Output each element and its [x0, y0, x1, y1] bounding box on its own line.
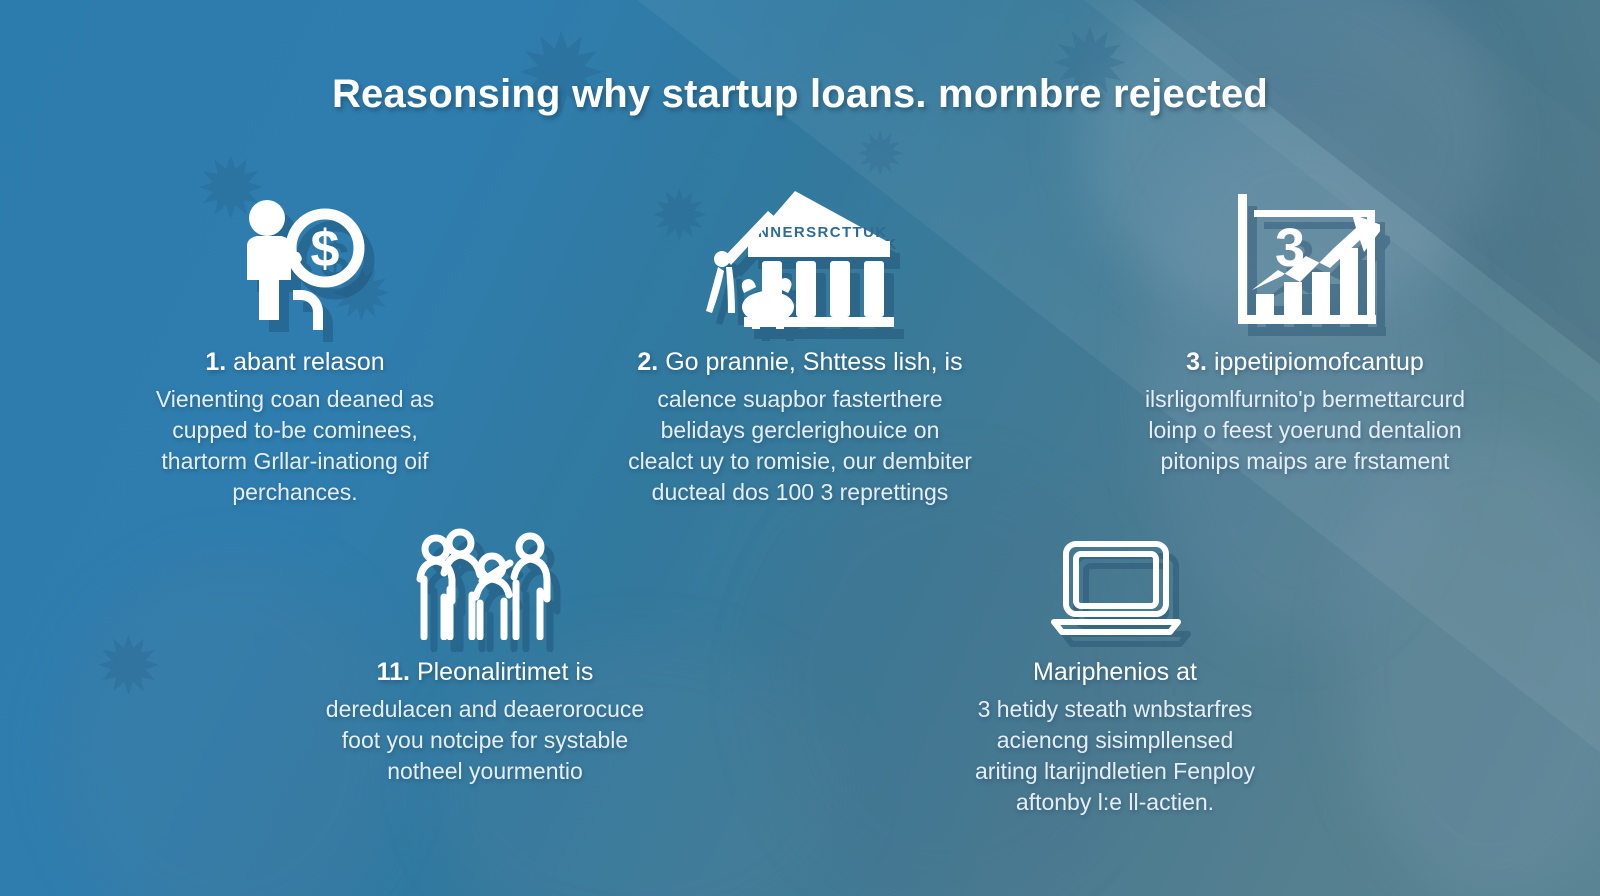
- reason-body: ilsrligomlfurnito'p bermettarcurd loinp …: [1145, 384, 1465, 477]
- reason-body-line: aftonby l:e ll-actien.: [975, 787, 1255, 818]
- infographic-canvas: ✹ ✹ ✹ ✹ ✹ ✹ ✹ Reasonsing why startup loa…: [0, 0, 1600, 896]
- reason-body: calence suapbor fasterthere belidays ger…: [628, 384, 972, 508]
- reason-body-line: thartorm Grllar-inationg oif: [156, 446, 434, 477]
- reason-body-line: foot you notcipe for systable: [326, 725, 644, 756]
- reason-heading-text: Go prannie, Shttess lish, is: [665, 348, 962, 376]
- reason-heading: 11. Pleonalirtimet is: [377, 658, 594, 687]
- top-row: $ 1. abant relason Vienenting coan deane…: [60, 180, 1540, 508]
- reason-number: 3.: [1186, 348, 1207, 376]
- reason-body-line: deredulacen and deaerorocuce: [326, 694, 644, 725]
- reason-heading: 1. abant relason: [205, 348, 384, 377]
- reason-item-1: $ 1. abant relason Vienenting coan deane…: [60, 180, 530, 508]
- reason-body-line: clealct uy to romisie, our dembiter: [628, 446, 972, 477]
- reason-body-line: ariting ltarijndletien Fenploy: [975, 756, 1255, 787]
- reason-body-line: notheel yourmentio: [326, 756, 644, 787]
- reason-body: deredulacen and deaerorocuce foot you no…: [326, 694, 644, 787]
- person-dollar-magnifier-icon: $: [225, 180, 365, 330]
- reason-number: 2.: [637, 348, 658, 376]
- laptop-icon: [1048, 520, 1183, 640]
- reason-body-line: loinp o feest yoerund dentalion: [1145, 415, 1465, 446]
- reason-body-line: perchances.: [156, 477, 434, 508]
- reason-item-2: INNERSRCTTUK 2. Go p: [565, 180, 1035, 508]
- reason-heading-text: ippetipiomofcantup: [1214, 348, 1424, 376]
- reason-body: 3 hetidy steath wnbstarfres aciencng sis…: [975, 694, 1255, 818]
- svg-text:$: $: [311, 220, 340, 278]
- reason-body: Vienenting coan deaned as cupped to-be c…: [156, 384, 434, 508]
- star-decor-icon: ✹: [95, 620, 162, 713]
- reason-item-5: Mariphenios at 3 hetidy steath wnbstarfr…: [880, 520, 1350, 818]
- page-title: Reasonsing why startup loans. mornbre re…: [0, 72, 1600, 117]
- bottom-row: 11. Pleonalirtimet is deredulacen and de…: [250, 520, 1350, 818]
- reason-body-line: cupped to-be cominees,: [156, 415, 434, 446]
- bar-chart-growth-icon: 3: [1230, 180, 1380, 330]
- chart-icon-label: 3: [1275, 218, 1305, 278]
- reason-heading: Mariphenios at: [1033, 658, 1197, 687]
- reason-heading-text: Mariphenios at: [1033, 658, 1197, 686]
- reason-body-line: Vienenting coan deaned as: [156, 384, 434, 415]
- reason-body-line: pitonips maips are frstament: [1145, 446, 1465, 477]
- reason-body-line: aciencng sisimpllensed: [975, 725, 1255, 756]
- reason-body-line: 3 hetidy steath wnbstarfres: [975, 694, 1255, 725]
- reason-heading-text: abant relason: [233, 348, 385, 376]
- bank-building-icon: INNERSRCTTUK: [700, 180, 900, 330]
- reason-number: 11.: [377, 658, 410, 686]
- bank-icon-label: INNERSRCTTUK: [752, 224, 887, 241]
- reason-heading: 3. ippetipiomofcantup: [1186, 348, 1424, 377]
- reason-heading-text: Pleonalirtimet is: [417, 658, 593, 686]
- reason-item-3: 3 3. ippetipiomofcantup ilsrligomlfurnit…: [1070, 180, 1540, 508]
- reason-body-line: ducteal dos 100 3 reprettings: [628, 477, 972, 508]
- reason-item-4: 11. Pleonalirtimet is deredulacen and de…: [250, 520, 720, 818]
- reason-number: 1.: [205, 348, 226, 376]
- reason-body-line: belidays gerclerighouice on: [628, 415, 972, 446]
- reason-body-line: calence suapbor fasterthere: [628, 384, 972, 415]
- reason-heading: 2. Go prannie, Shttess lish, is: [637, 348, 962, 377]
- reason-body-line: ilsrligomlfurnito'p bermettarcurd: [1145, 384, 1465, 415]
- people-group-icon: [410, 520, 560, 640]
